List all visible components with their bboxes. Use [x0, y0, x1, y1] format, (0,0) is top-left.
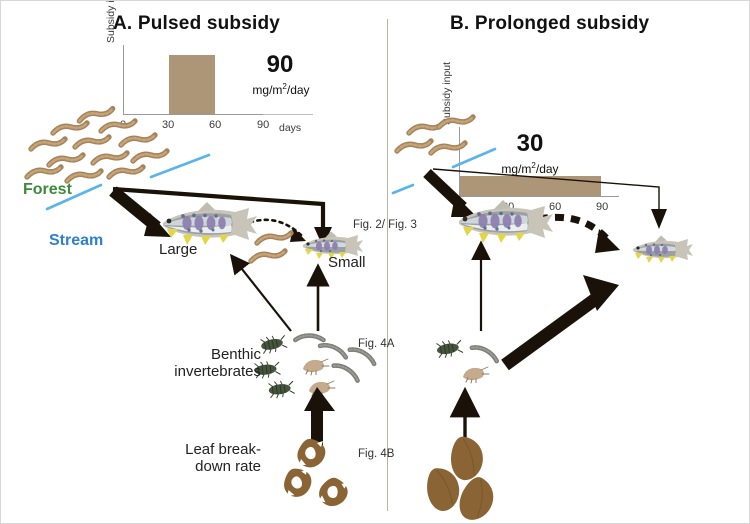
leaf-litter-panel-a — [281, 439, 350, 510]
prey-arrow-small-panel-b — [505, 275, 619, 365]
panel-a-yaxis — [123, 45, 124, 115]
forest-label: Forest — [23, 181, 72, 199]
subsidy-bracket-panel-b — [433, 169, 659, 211]
panel-a-title: A. Pulsed subsidy — [113, 13, 280, 35]
panel-a-xaxis-dashed-ext — [263, 114, 313, 115]
displacement-arrow-panel-b — [539, 217, 620, 253]
benthic-label-line2: invertebrates — [174, 363, 261, 380]
panel-b-ylabel: Subsidy input — [441, 0, 453, 125]
subsidy-bracket-head-panel-b — [651, 209, 667, 229]
small-fish-label: Small — [328, 254, 366, 271]
large-fish-label: Large — [159, 241, 197, 258]
benthic-invertebrates-panel-b — [436, 339, 499, 383]
leaf-label-line1: Leaf break- — [185, 441, 261, 458]
caterpillar-cluster-panel-b — [397, 117, 473, 153]
panel-b-title: B. Prolonged subsidy — [450, 13, 649, 35]
breakdown-arrow-panel-a — [304, 387, 335, 447]
panel-a-rate-units: mg/m2/day — [235, 82, 327, 97]
large-fish-panel-a — [163, 202, 257, 245]
subsidy-arrow-panel-b — [427, 173, 477, 217]
panel-a-chart: Subsidy input 0 30 60 90 days 90 mg/m2/d… — [105, 43, 335, 125]
leaf-label-line2: down rate — [195, 458, 261, 475]
benthic-invertebrates-label: Benthic invertebrates — [151, 346, 261, 381]
fig-ref-fish: Fig. 2/ Fig. 3 — [353, 219, 417, 231]
leaf-litter-panel-b — [419, 433, 496, 523]
large-fish-panel-b — [459, 200, 553, 243]
unit-suffix: /day — [287, 83, 310, 97]
panel-a-xaxis — [123, 114, 263, 115]
fig-ref-invertebrates: Fig. 4A — [358, 338, 394, 350]
prey-arrow-large-panel-a — [234, 259, 291, 331]
panel-a-rate-value: 90 — [235, 53, 325, 77]
small-fish-panel-b — [633, 235, 693, 263]
benthic-label-line1: Benthic — [211, 346, 261, 363]
subsidy-arrow-panel-a — [113, 191, 171, 237]
panel-b-scene — [387, 119, 750, 519]
panel-a-subsidy-bar — [169, 55, 215, 114]
panel-a-ylabel: Subsidy input — [105, 0, 117, 43]
stream-label: Stream — [49, 232, 103, 250]
figure-canvas: A. Pulsed subsidy Subsidy input 0 30 60 … — [0, 0, 750, 524]
leaf-breakdown-label: Leaf break- down rate — [151, 441, 261, 476]
drifting-caterpillars-panel-a — [251, 233, 291, 261]
caterpillar-cluster-panel-a — [27, 109, 167, 181]
unit-prefix: mg/m — [252, 83, 282, 97]
fig-ref-leaves: Fig. 4B — [358, 448, 394, 460]
